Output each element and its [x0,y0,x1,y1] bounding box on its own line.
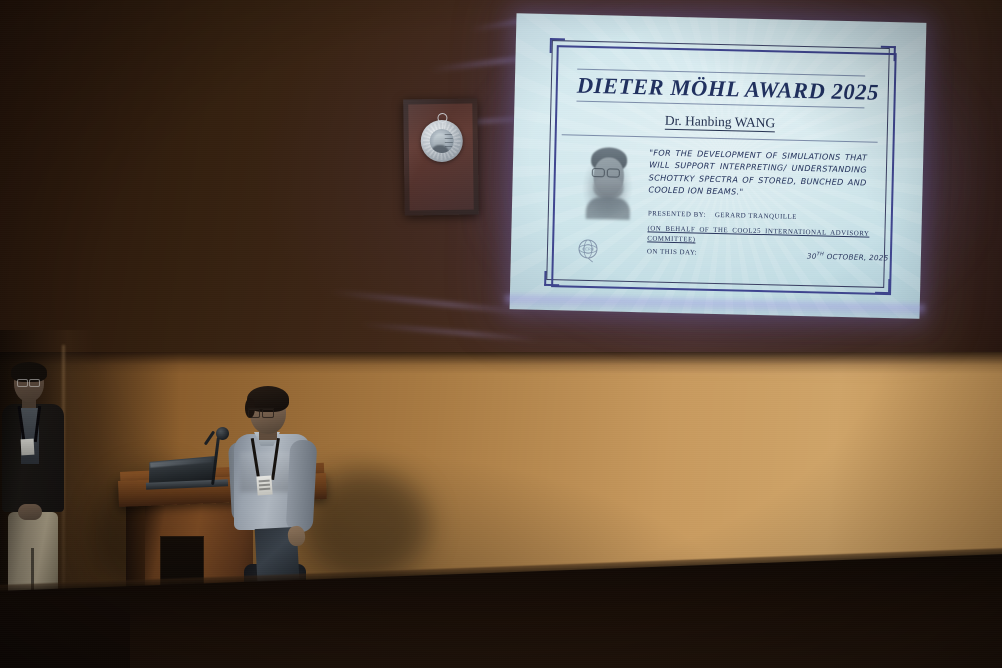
badge-line-3 [259,488,270,490]
corner-notch-top-right [881,46,896,61]
speaker-badge [256,475,272,495]
portrait-glasses-left [592,168,605,177]
projection-screen: DIETER MÖHL AWARD 2025 Dr. Hanbing WANG … [510,13,927,319]
badge-line-1 [259,480,270,482]
speaker-arm-right [286,439,318,532]
on-behalf-of-text: (ON BEHALF OF THE COOL25 INTERNATIONAL A… [647,225,869,243]
date-month-year: OCTOBER, 2025 [824,252,889,263]
plaque-glass-reflection [403,98,479,215]
svg-text:CERN: CERN [582,246,594,251]
speaker-glasses [248,408,274,417]
attendee-hands [18,504,42,520]
portrait-shoulders [586,197,631,220]
stage-floor-left [0,596,130,668]
date-number: 30 [807,252,817,261]
portrait-glasses-right [607,168,620,177]
award-certificate: DIETER MÖHL AWARD 2025 Dr. Hanbing WANG … [530,28,906,303]
cern-logo: CERN [575,237,602,264]
certificate-citation: "FOR THE DEVELOPMENT OF SIMULATIONS THAT… [648,146,867,201]
framed-award-medal [403,98,479,215]
corner-notch-bottom-right [875,279,890,294]
certificate-portrait [578,143,638,218]
corner-notch-top-left [550,38,565,53]
presented-by-label: PRESENTED BY: [648,210,706,218]
certificate-date: 30TH OCTOBER, 2025 [807,251,889,262]
attendee-badge [21,439,35,456]
recipient-name-text: Dr. Hanbing WANG [665,113,776,133]
attendee-glasses [17,379,39,385]
badge-line-2 [259,484,270,486]
auditorium-photo: DIETER MÖHL AWARD 2025 Dr. Hanbing WANG … [0,0,1002,668]
corner-notch-bottom-left [544,271,559,286]
